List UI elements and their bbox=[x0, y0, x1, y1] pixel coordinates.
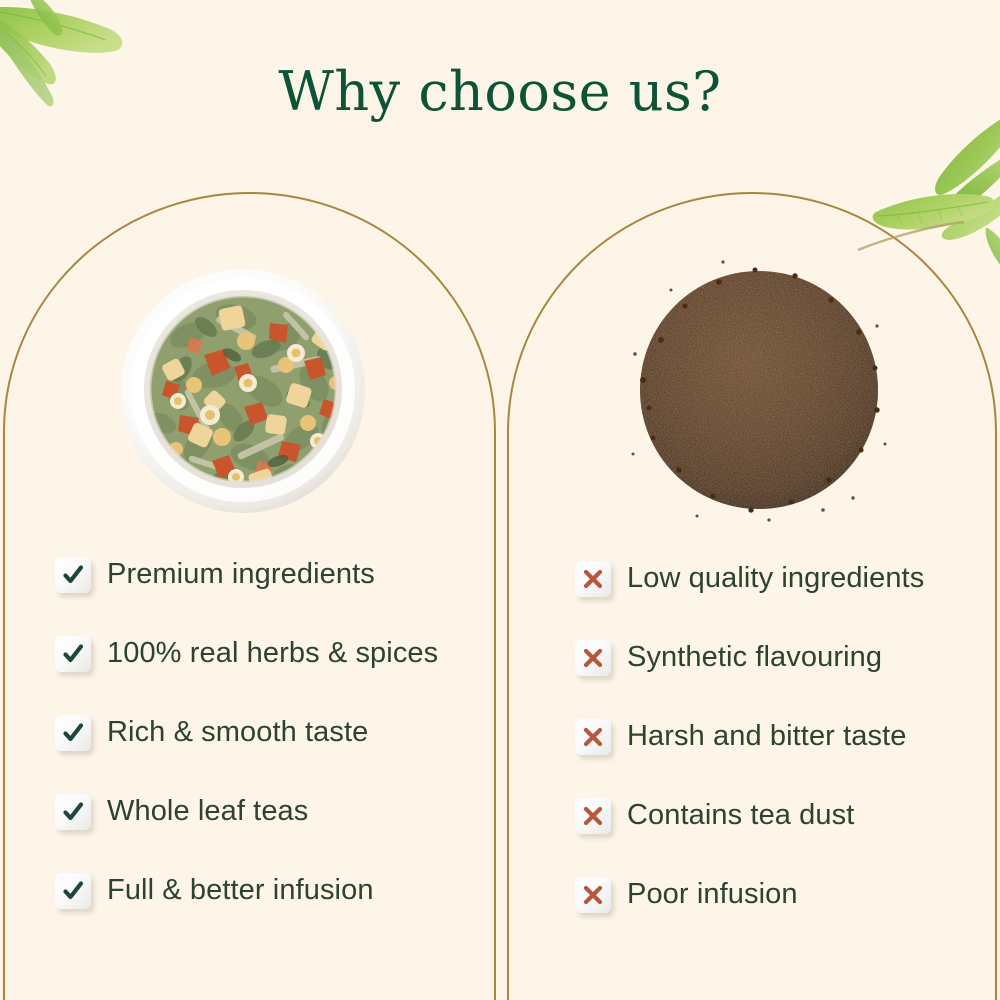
page-title: Why choose us? bbox=[0, 60, 1000, 123]
list-item: Harsh and bitter taste bbox=[575, 710, 995, 763]
check-icon bbox=[55, 715, 91, 751]
cross-icon bbox=[575, 640, 611, 676]
list-item-label: Synthetic flavouring bbox=[627, 641, 882, 674]
list-item: Low quality ingredients bbox=[575, 552, 995, 605]
check-icon bbox=[55, 873, 91, 909]
list-item-label: Low quality ingredients bbox=[627, 562, 924, 595]
list-item: 100% real herbs & spices bbox=[55, 627, 485, 680]
check-icon bbox=[55, 636, 91, 672]
comparison-infographic: Why choose us? bbox=[0, 0, 1000, 1000]
pile-of-tea-dust bbox=[627, 258, 892, 523]
cross-icon bbox=[575, 877, 611, 913]
list-item: Synthetic flavouring bbox=[575, 631, 995, 684]
list-item-label: Whole leaf teas bbox=[107, 795, 308, 828]
cross-icon bbox=[575, 561, 611, 597]
list-item-label: Full & better infusion bbox=[107, 874, 374, 907]
bowl-of-whole-leaf-herbal-tea bbox=[118, 265, 368, 515]
list-item-label: Poor infusion bbox=[627, 878, 798, 911]
low-quality-tea-panel: Low quality ingredients Synthetic flavou… bbox=[575, 552, 995, 921]
check-icon bbox=[55, 794, 91, 830]
list-item: Contains tea dust bbox=[575, 789, 995, 842]
list-item: Premium ingredients bbox=[55, 548, 485, 601]
list-item-label: Rich & smooth taste bbox=[107, 716, 368, 749]
list-item-label: 100% real herbs & spices bbox=[107, 637, 438, 670]
list-item: Whole leaf teas bbox=[55, 785, 485, 838]
premium-tea-panel: Premium ingredients 100% real herbs & sp… bbox=[55, 548, 485, 917]
cross-icon bbox=[575, 798, 611, 834]
list-item: Poor infusion bbox=[575, 868, 995, 921]
list-item: Rich & smooth taste bbox=[55, 706, 485, 759]
list-item: Full & better infusion bbox=[55, 864, 485, 917]
check-icon bbox=[55, 557, 91, 593]
list-item-label: Harsh and bitter taste bbox=[627, 720, 906, 753]
cross-icon bbox=[575, 719, 611, 755]
list-item-label: Contains tea dust bbox=[627, 799, 854, 832]
list-item-label: Premium ingredients bbox=[107, 558, 375, 591]
